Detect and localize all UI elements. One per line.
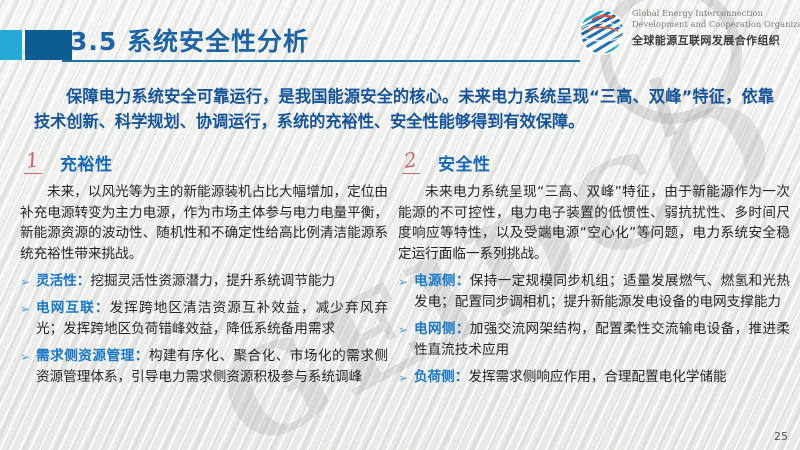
section-2-header: 2 安全性 xyxy=(398,150,790,178)
list-item-term: 需求侧资源管理： xyxy=(36,348,149,364)
page-number: 25 xyxy=(774,430,788,443)
title-underline-rule xyxy=(62,60,580,62)
logo-cn-line: 全球能源互联网发展合作组织 xyxy=(632,32,796,48)
section-2-paragraph: 未来电力系统呈现“三高、双峰”特征，由于新能源作为一次能源的不可控性，电力电子装… xyxy=(398,182,790,264)
section-2-number: 2 xyxy=(402,147,418,173)
list-item-term: 电源侧： xyxy=(414,273,470,289)
arrow-bullet-icon: ➢ xyxy=(20,347,30,368)
arrow-bullet-icon: ➢ xyxy=(398,320,408,341)
list-item-term: 电网互联： xyxy=(36,300,110,316)
list-item-term: 电网侧： xyxy=(414,321,470,337)
arrow-bullet-icon: ➢ xyxy=(398,368,408,389)
section-1-header: 1 充裕性 xyxy=(20,150,388,178)
section-1-paragraph: 未来，以风光等为主的新能源装机占比大幅增加，定位由补充电源转变为主力电源，作为市… xyxy=(20,182,388,264)
section-2-bullet-list: ➢ 电源侧：保持一定规模同步机组；适量发展燃气、燃氢和光热发电；配置同步调相机；… xyxy=(398,271,790,388)
list-item: ➢ 负荷侧：发挥需求侧响应作用，合理配置电化学储能 xyxy=(398,367,790,388)
lead-paragraph: 保障电力系统安全可靠运行，是我国能源安全的核心。未来电力系统呈现“三高、双峰”特… xyxy=(34,84,774,134)
list-item-term: 灵活性： xyxy=(36,273,90,289)
list-item-text: 发挥需求侧响应作用，合理配置电化学储能 xyxy=(468,369,726,385)
list-item-text: 加强交流网架结构，配置柔性交流输电设备，推进柔性直流技术应用 xyxy=(414,321,790,358)
arrow-bullet-icon: ➢ xyxy=(20,299,30,320)
arrow-bullet-icon: ➢ xyxy=(398,272,408,293)
page-title: 3.5 系统安全性分析 xyxy=(70,22,309,58)
list-item: ➢ 电网侧：加强交流网架结构，配置柔性交流输电设备，推进柔性直流技术应用 xyxy=(398,319,790,361)
slide-canvas: GEIDCO 3.5 系统安全性分析 xyxy=(0,0,800,450)
section-2-number-underline xyxy=(402,173,420,174)
list-item-term: 负荷侧： xyxy=(414,369,468,385)
list-item-text: 挖掘灵活性资源潜力，提升系统调节能力 xyxy=(90,273,335,289)
slide-header: 3.5 系统安全性分析 xyxy=(0,0,800,72)
section-1-number: 1 xyxy=(24,147,40,173)
section-2-title: 安全性 xyxy=(438,150,491,175)
organization-logo: Global Energy Interconnection Developmen… xyxy=(578,6,796,58)
list-item-text: 保持一定规模同步机组；适量发展燃气、燃氢和光热发电；配置同步调相机；提升新能源发… xyxy=(414,273,790,310)
logo-text-block: Global Energy Interconnection Developmen… xyxy=(632,8,796,48)
section-1-title: 充裕性 xyxy=(60,150,113,175)
list-item: ➢ 电网互联：发挥跨地区清洁资源互补效益，减少弃风弃光；发挥跨地区负荷错峰效益，… xyxy=(20,298,388,340)
list-item: ➢ 灵活性：挖掘灵活性资源潜力，提升系统调节能力 xyxy=(20,271,388,292)
list-item: ➢ 需求侧资源管理：构建有序化、聚合化、市场化的需求侧资源管理体系，引导电力需求… xyxy=(20,346,388,388)
section-1-number-underline xyxy=(24,173,42,174)
geidco-globe-logo-icon xyxy=(578,8,626,56)
section-1-bullet-list: ➢ 灵活性：挖掘灵活性资源潜力，提升系统调节能力 ➢ 电网互联：发挥跨地区清洁资… xyxy=(20,271,388,388)
header-accent-bar-navy xyxy=(25,30,72,60)
section-column-2: 2 安全性 未来电力系统呈现“三高、双峰”特征，由于新能源作为一次能源的不可控性… xyxy=(398,150,790,394)
header-accent-bar-cyan xyxy=(0,30,22,60)
list-item: ➢ 电源侧：保持一定规模同步机组；适量发展燃气、燃氢和光热发电；配置同步调相机；… xyxy=(398,271,790,313)
logo-en-line1: Global Energy Interconnection xyxy=(632,8,796,19)
logo-en-line2: Development and Cooperation Organization xyxy=(632,19,796,30)
section-column-1: 1 充裕性 未来，以风光等为主的新能源装机占比大幅增加，定位由补充电源转变为主力… xyxy=(20,150,388,394)
arrow-bullet-icon: ➢ xyxy=(20,272,30,293)
